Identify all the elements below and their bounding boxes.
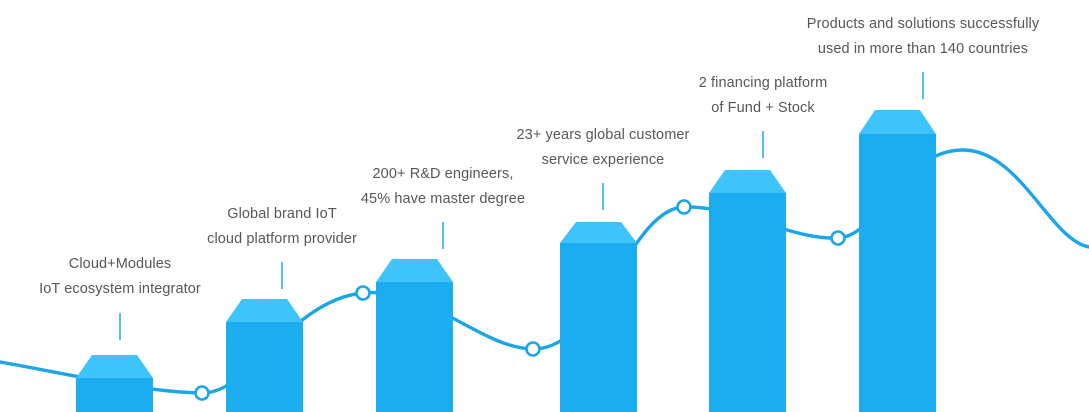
label-ticks-layer xyxy=(0,0,1089,412)
infographic-chart: Cloud+Modules IoT ecosystem integrator G… xyxy=(0,0,1089,412)
